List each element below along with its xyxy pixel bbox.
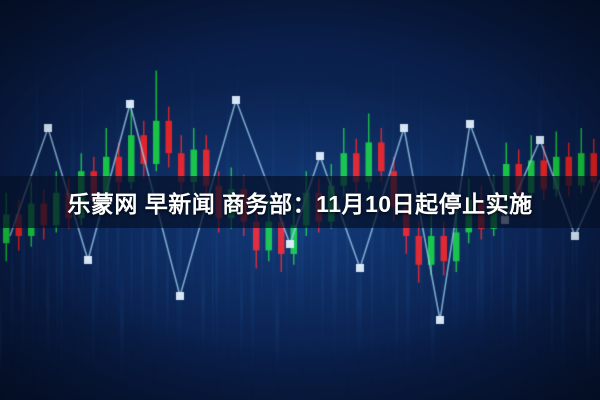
stock-chart-image: 乐蒙网 早新闻 商务部：11月10日起停止实施 (0, 0, 600, 400)
candlestick-chart-canvas (0, 0, 600, 400)
